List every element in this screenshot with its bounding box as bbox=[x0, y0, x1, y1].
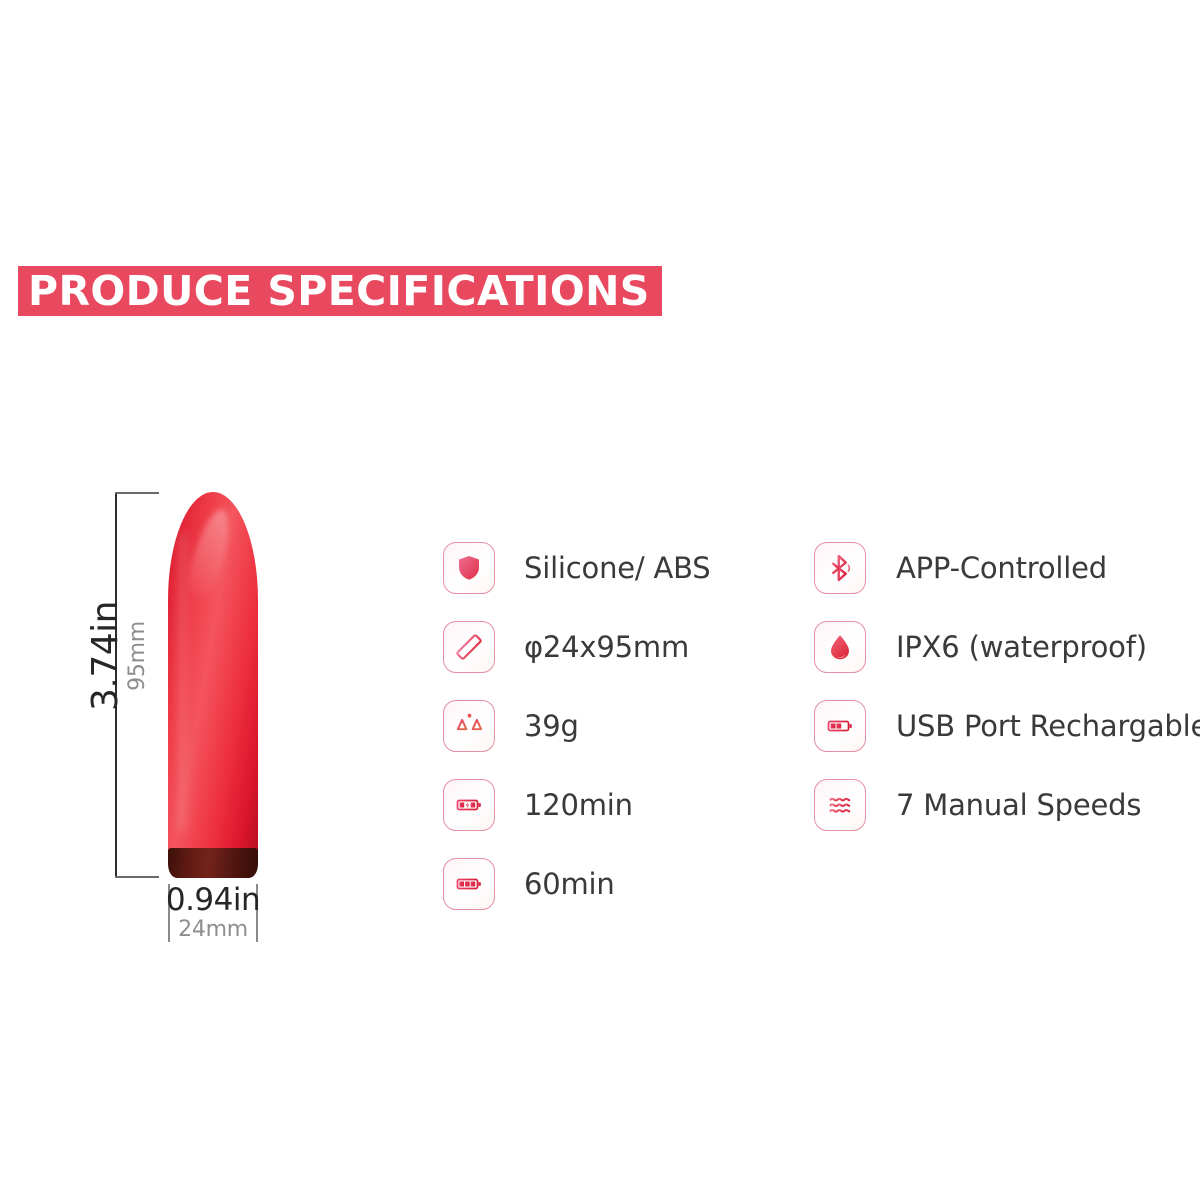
height-tick-bottom bbox=[115, 876, 159, 878]
spec-label-material: Silicone/ ABS bbox=[524, 554, 711, 583]
height-label-inches: 3.74in bbox=[88, 601, 124, 711]
width-dimension-labels: 0.94in 24mm bbox=[160, 884, 266, 942]
spec-label-app-control: APP-Controlled bbox=[896, 554, 1107, 583]
spec-label-usb-rechargeable: USB Port Rechargable bbox=[896, 712, 1200, 741]
spec-row-usb-rechargeable: USB Port Rechargable bbox=[814, 700, 1200, 752]
spec-row-use-time: 60min bbox=[443, 858, 711, 910]
height-tick-top bbox=[115, 492, 159, 494]
spec-label-waterproof: IPX6 (waterproof) bbox=[896, 633, 1147, 662]
spec-list-left: Silicone/ ABS φ24x95 bbox=[443, 542, 711, 937]
battery-full-icon bbox=[443, 858, 495, 910]
product-dimension-figure: 3.74in 95mm 0.94in 24mm bbox=[100, 480, 400, 960]
bluetooth-icon bbox=[814, 542, 866, 594]
spec-row-speeds: 7 Manual Speeds bbox=[814, 779, 1200, 831]
spec-row-waterproof: IPX6 (waterproof) bbox=[814, 621, 1200, 673]
battery-charging-icon bbox=[443, 779, 495, 831]
spec-label-charge-time: 120min bbox=[524, 791, 633, 820]
height-dimension-labels: 3.74in 95mm bbox=[91, 561, 147, 751]
spec-label-use-time: 60min bbox=[524, 870, 615, 899]
width-label-inches: 0.94in bbox=[160, 884, 266, 917]
page-title-banner: PRODUCE SPECIFICATIONS bbox=[18, 266, 662, 316]
water-droplet-icon bbox=[814, 621, 866, 673]
balance-scale-icon bbox=[443, 700, 495, 752]
spec-label-speeds: 7 Manual Speeds bbox=[896, 791, 1141, 820]
spec-row-material: Silicone/ ABS bbox=[443, 542, 711, 594]
product-base-cap bbox=[168, 848, 258, 878]
wave-lines-icon bbox=[814, 779, 866, 831]
spec-row-weight: 39g bbox=[443, 700, 711, 752]
width-label-millimeters: 24mm bbox=[160, 918, 266, 942]
ruler-icon bbox=[443, 621, 495, 673]
spec-row-size: φ24x95mm bbox=[443, 621, 711, 673]
spec-label-weight: 39g bbox=[524, 712, 579, 741]
spec-label-size: φ24x95mm bbox=[524, 633, 689, 662]
spec-list-right: APP-Controlled IPX6 (waterproof) bbox=[814, 542, 1200, 858]
shield-icon bbox=[443, 542, 495, 594]
spec-row-app-control: APP-Controlled bbox=[814, 542, 1200, 594]
page-title: PRODUCE SPECIFICATIONS bbox=[28, 271, 650, 312]
product-image bbox=[168, 492, 258, 858]
battery-usb-icon bbox=[814, 700, 866, 752]
height-label-millimeters: 95mm bbox=[126, 621, 150, 691]
spec-row-charge-time: 120min bbox=[443, 779, 711, 831]
